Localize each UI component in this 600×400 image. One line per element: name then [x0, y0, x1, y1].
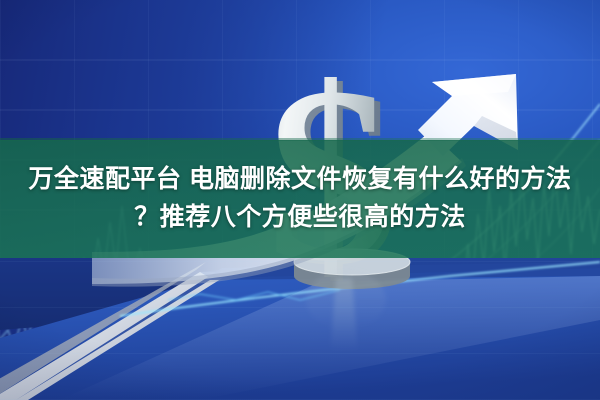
banner-image: $ $ [0, 0, 600, 400]
headline: 万全速配平台 电脑删除文件恢复有什么好的方法 ？推荐八个方便些很高的方法 [0, 160, 600, 236]
headline-line-2: ？推荐八个方便些很高的方法 [8, 198, 592, 236]
headline-line-1: 万全速配平台 电脑删除文件恢复有什么好的方法 [8, 160, 592, 198]
